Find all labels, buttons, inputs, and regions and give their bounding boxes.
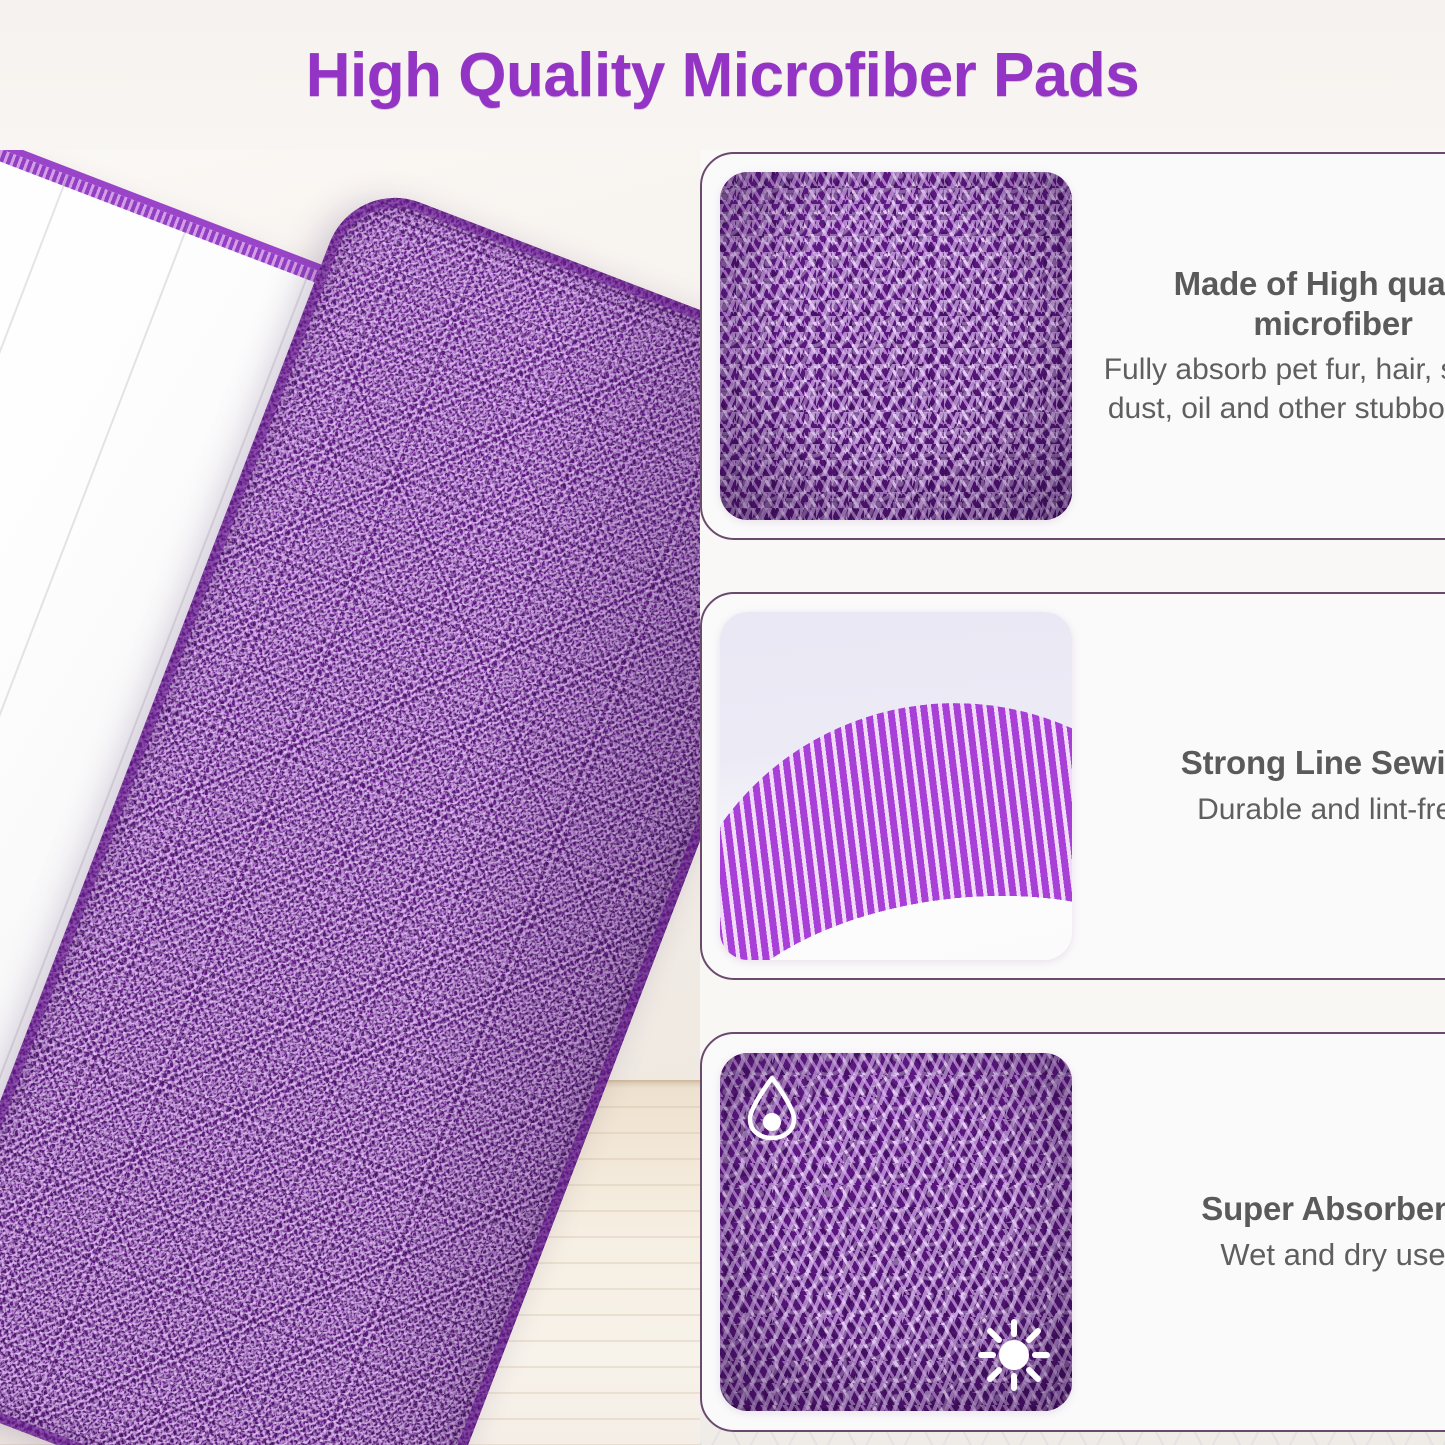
feature-heading: Super Absorbent — [1090, 1189, 1445, 1229]
infographic-page: High Quality Microfiber Pads M — [0, 0, 1445, 1445]
feature-body: Fully absorb pet fur, hair, sundries, du… — [1090, 350, 1445, 428]
feature-heading: Strong Line Sewing — [1090, 743, 1445, 783]
feature-image-microfiber-closeup — [720, 172, 1072, 520]
sewing-photo — [720, 612, 1072, 960]
purple-overlock-stitching — [720, 670, 1072, 960]
feature-image-microfiber-loops — [720, 1053, 1072, 1411]
image-vignette — [720, 172, 1072, 520]
feature-card-super-absorbent: Super Absorbent Wet and dry use — [700, 1032, 1445, 1432]
page-header: High Quality Microfiber Pads — [0, 0, 1445, 150]
feature-heading: Made of High quality microfiber — [1090, 264, 1445, 345]
feature-text-block: Made of High quality microfiber Fully ab… — [1072, 264, 1445, 429]
feature-body: Wet and dry use — [1090, 1235, 1445, 1275]
feature-text-block: Super Absorbent Wet and dry use — [1072, 1189, 1445, 1276]
page-title: High Quality Microfiber Pads — [306, 40, 1139, 111]
feature-body: Durable and lint-free — [1090, 790, 1445, 829]
sun-icon — [978, 1319, 1050, 1391]
water-drop-icon — [742, 1073, 802, 1141]
feature-card-strong-line-sewing: Strong Line Sewing Durable and lint-free — [700, 592, 1445, 980]
feature-text-block: Strong Line Sewing Durable and lint-free — [1072, 743, 1445, 828]
feature-image-stitching-closeup — [720, 612, 1072, 960]
product-photo — [0, 140, 700, 1445]
feature-card-made-of-high-quality-microfiber: Made of High quality microfiber Fully ab… — [700, 152, 1445, 540]
feature-list: Made of High quality microfiber Fully ab… — [690, 140, 1445, 1445]
